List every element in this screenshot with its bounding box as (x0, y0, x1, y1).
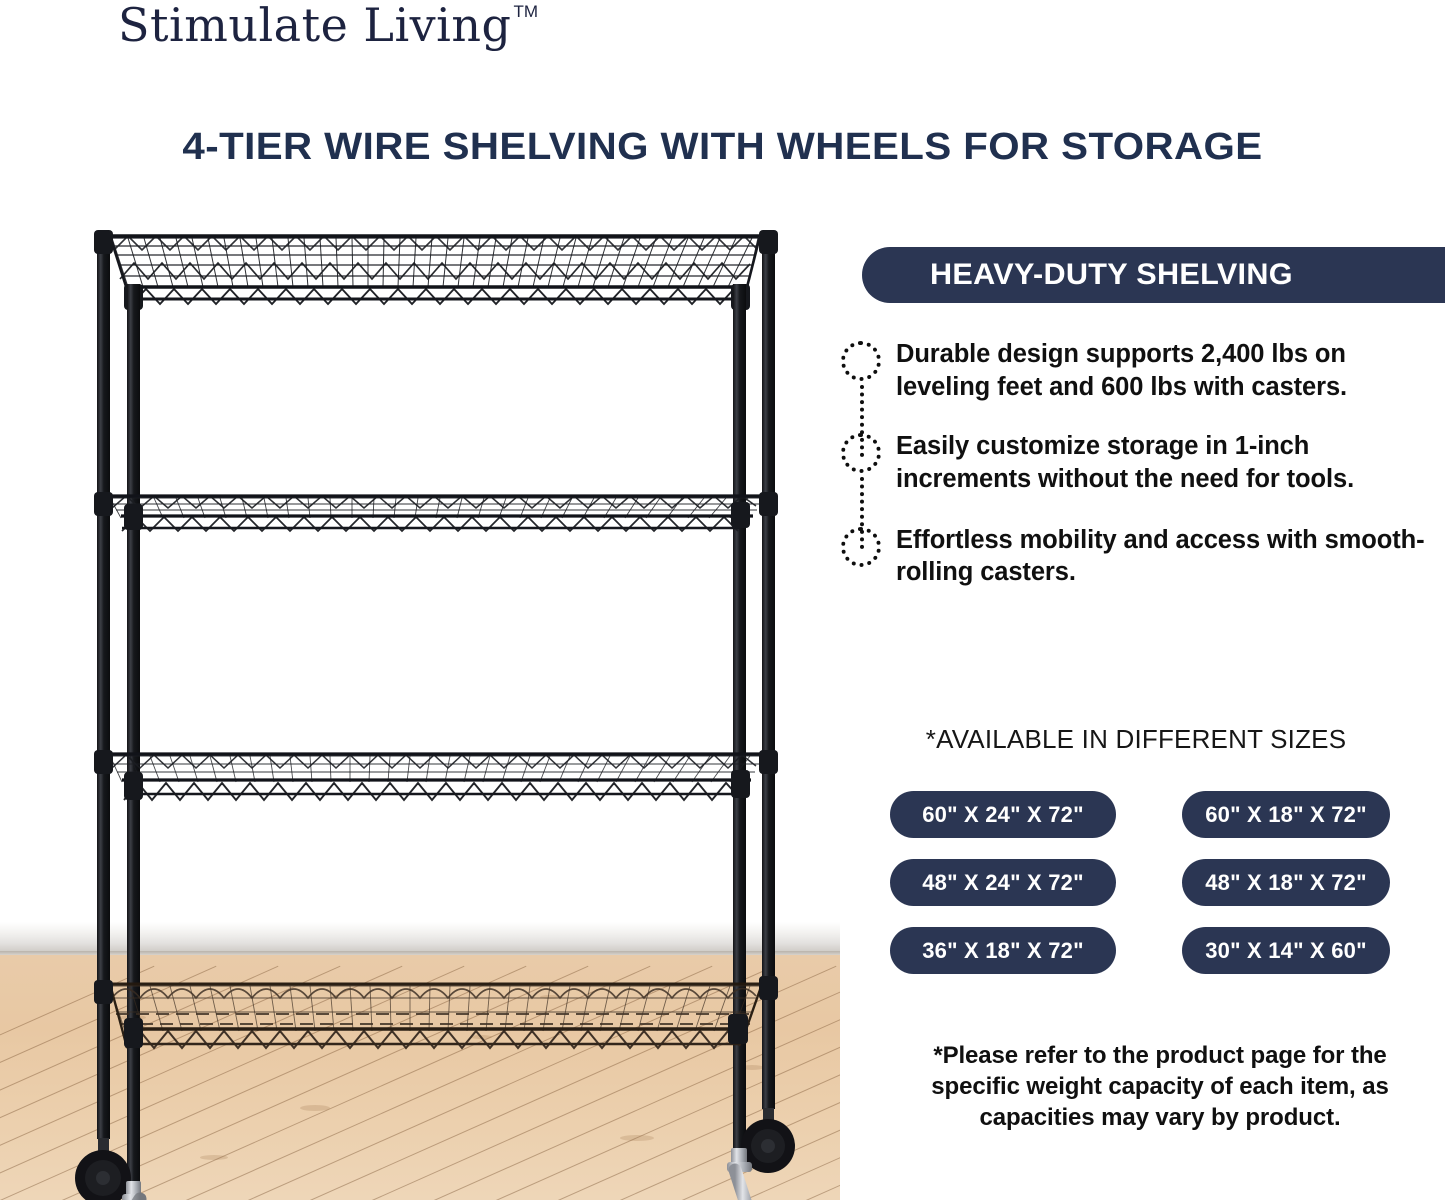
bullet-marker-3 (836, 522, 896, 567)
feature-list: Durable design supports 2,400 lbs on lev… (836, 336, 1436, 589)
shelf-collar (94, 492, 113, 516)
size-row-1: 60" X 24" X 72" 60" X 18" X 72" (890, 791, 1390, 838)
shelf-tier-4 (110, 984, 762, 1048)
size-pill-48x18x72[interactable]: 48" X 18" X 72" (1182, 859, 1390, 906)
size-pill-60x18x72[interactable]: 60" X 18" X 72" (1182, 791, 1390, 838)
size-row-2: 48" X 24" X 72" 48" X 18" X 72" (890, 859, 1390, 906)
brand-name: Stimulate Living (118, 2, 511, 48)
shelf-collar (728, 1014, 748, 1044)
shelf-tier-1 (110, 236, 760, 304)
marketing-image: Stimulate LivingTM 4-TIER WIRE SHELVING … (0, 0, 1445, 1200)
feature-text-1: Durable design supports 2,400 lbs on lev… (896, 336, 1431, 404)
bullet-marker-2 (836, 428, 896, 473)
size-row-3: 36" X 18" X 72" 30" X 14" X 60" (890, 927, 1390, 974)
shelf-collar (94, 230, 113, 254)
shelf-collar (124, 504, 143, 530)
brand-logo: Stimulate LivingTM (118, 2, 678, 64)
trademark-symbol: TM (513, 2, 538, 22)
heavy-duty-banner: HEAVY-DUTY SHELVING (862, 247, 1445, 303)
size-pill-30x14x60[interactable]: 30" X 14" X 60" (1182, 927, 1390, 974)
bullet-marker-1 (836, 336, 896, 381)
size-pill-60x24x72[interactable]: 60" X 24" X 72" (890, 791, 1116, 838)
feature-item-2: Easily customize storage in 1-inch incre… (836, 428, 1436, 496)
feature-text-2: Easily customize storage in 1-inch incre… (896, 428, 1431, 496)
shelf-collar (94, 980, 113, 1004)
dotted-circle-icon (841, 527, 881, 567)
shelf-tier-2 (110, 496, 762, 531)
product-photo (0, 186, 840, 1200)
dotted-circle-icon (841, 433, 881, 473)
size-options-grid: 60" X 24" X 72" 60" X 18" X 72" 48" X 24… (890, 791, 1390, 995)
dotted-circle-icon (841, 341, 881, 381)
shelf-tier-3 (110, 754, 762, 800)
shelf-collar (94, 750, 113, 774)
shelf-collar (731, 770, 750, 798)
feature-item-3: Effortless mobility and access with smoo… (836, 522, 1436, 590)
page-title: 4-TIER WIRE SHELVING WITH WHEELS FOR STO… (0, 126, 1445, 169)
shelf-collar (759, 976, 778, 1000)
wire-shelving-unit (0, 186, 840, 1200)
feature-text-3: Effortless mobility and access with smoo… (896, 522, 1431, 590)
size-pill-48x24x72[interactable]: 48" X 24" X 72" (890, 859, 1116, 906)
shelf-collar (124, 772, 143, 800)
shelf-collar (759, 750, 778, 774)
sizes-heading: *AVAILABLE IN DIFFERENT SIZES (836, 724, 1436, 755)
heavy-duty-banner-label: HEAVY-DUTY SHELVING (930, 258, 1293, 292)
feature-item-1: Durable design supports 2,400 lbs on lev… (836, 336, 1436, 404)
size-pill-36x18x72[interactable]: 36" X 18" X 72" (890, 927, 1116, 974)
shelf-collar (759, 230, 778, 254)
caster-rear-left (75, 1138, 131, 1200)
capacity-disclaimer: *Please refer to the product page for th… (900, 1040, 1420, 1134)
shelf-collar (124, 1018, 143, 1048)
shelf-collar (759, 492, 778, 516)
front-left-post (127, 284, 140, 1184)
shelf-collar (731, 502, 750, 528)
